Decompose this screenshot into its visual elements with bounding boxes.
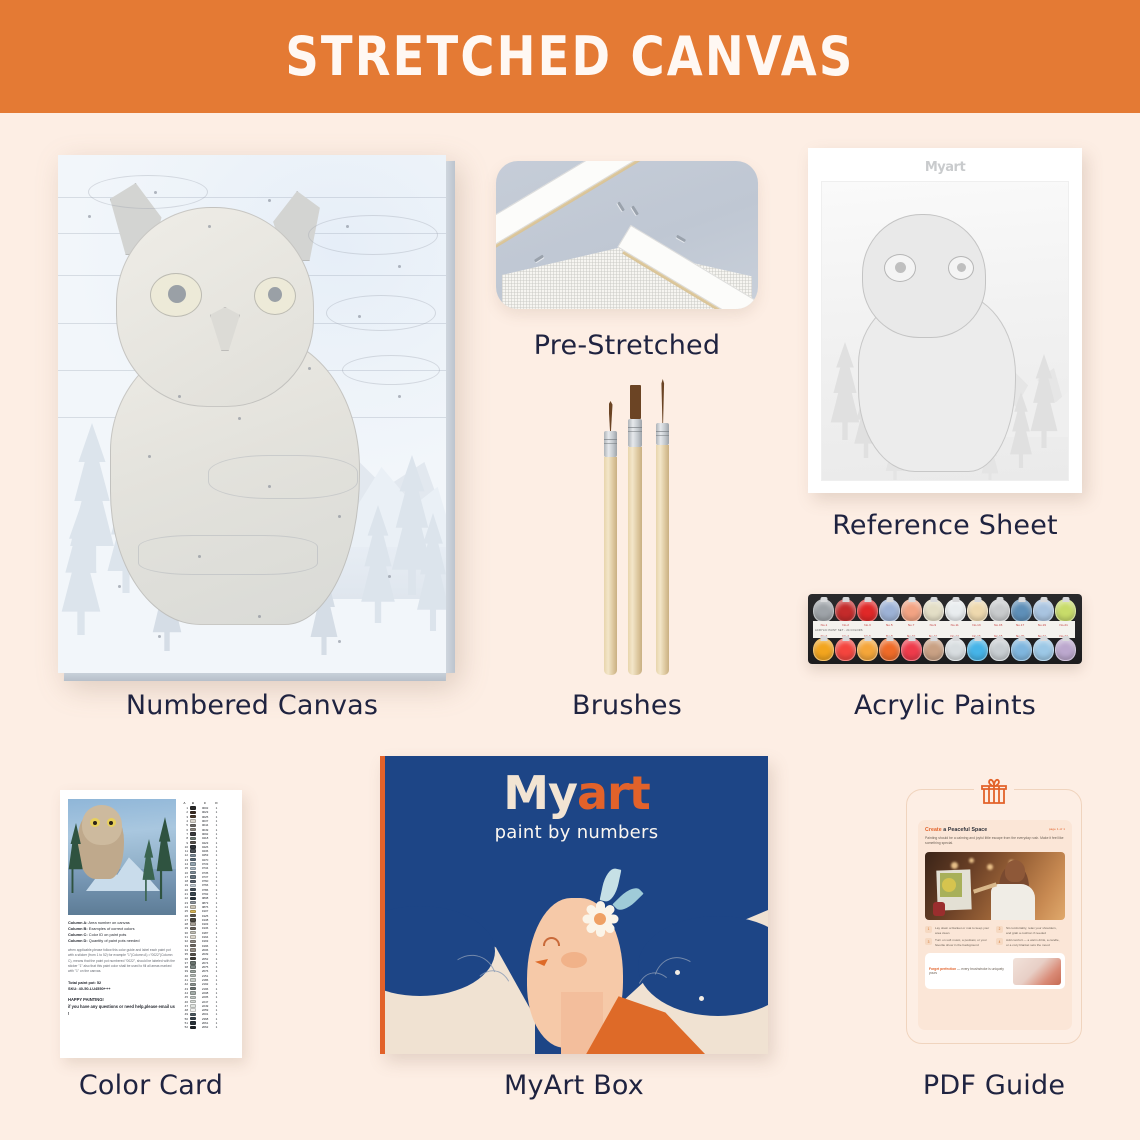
color-swatch [190, 983, 196, 986]
canvas-face [58, 155, 446, 673]
color-swatch [190, 875, 196, 878]
myart-logo-reference: Myart [821, 160, 1069, 175]
color-card-column-header: B [190, 801, 196, 805]
color-swatch [190, 940, 196, 943]
paint-pot-number: No.15 [987, 623, 1009, 627]
sparkle-dot [675, 970, 680, 975]
acrylic-paints-label: Acrylic Paints [808, 690, 1082, 721]
paint-pot-number: No.5 [878, 623, 900, 627]
paint-pot [1033, 599, 1054, 622]
color-swatch [190, 910, 196, 913]
color-swatch [190, 867, 196, 870]
canvas-owl-pupil-right [268, 287, 282, 302]
color-card-contact: if you have any questions or need help,p… [68, 1004, 176, 1018]
paint-pot-number: No.13 [966, 623, 988, 627]
paint-pot [989, 638, 1010, 661]
pdf-guide-tips: 1Lay down a blanket or mat to keep your … [925, 926, 1065, 948]
color-swatch [190, 888, 196, 891]
color-card-row: 5220621 [181, 1025, 234, 1029]
color-swatch [190, 961, 196, 964]
pdf-guide-footer-image [1013, 958, 1061, 985]
gift-icon [974, 772, 1014, 808]
color-swatch [190, 1021, 196, 1024]
pdf-guide-page: page 1 of 1 Create a Peaceful Space Pain… [918, 820, 1072, 1030]
box-front-face: Myart paint by numbers [385, 756, 768, 1054]
color-swatch [190, 841, 196, 844]
color-swatch [190, 974, 196, 977]
paint-pot-number: No.17 [1009, 623, 1031, 627]
paint-pot [857, 638, 878, 661]
paint-pot [967, 638, 988, 661]
color-area-number: 52 [181, 1025, 188, 1029]
color-card-label: Color Card [60, 1070, 242, 1101]
paint-pot [967, 599, 988, 622]
paint-pot [945, 638, 966, 661]
color-card-instructions: Column A: Area number on canvasColumn B:… [68, 920, 176, 1018]
color-swatch [190, 1000, 196, 1003]
pdf-guide-tip: 2Sit comfortably, relax your shoulders, … [996, 926, 1062, 935]
pdf-guide-title-accent: Create [925, 827, 942, 833]
pdf-guide-title-rest: a Peaceful Space [942, 827, 988, 833]
acrylic-paints-image: No.1No.2No.3No.5No.7No.9No.11No.13No.15N… [808, 594, 1082, 664]
brush-flat [628, 387, 642, 675]
pdf-guide-tip-text: Turn on soft music, a podcast, or your f… [935, 938, 991, 947]
color-swatch [190, 1026, 196, 1029]
pdf-guide-tip-text: Add comfort — a warm drink, a candle, or… [1006, 938, 1062, 947]
color-swatch [190, 871, 196, 874]
color-card-column-desc: Column D: Quantity of paint pots needed [68, 938, 176, 944]
daisy-center [594, 913, 606, 925]
pdf-guide-tip: 4Add comfort — a warm drink, a candle, o… [996, 938, 1062, 947]
paint-pot [835, 599, 856, 622]
pdf-guide-image: page 1 of 1 Create a Peaceful Space Pain… [906, 789, 1082, 1044]
paint-pot [879, 638, 900, 661]
pre-stretched-image [496, 161, 758, 309]
paint-pot [1055, 638, 1076, 661]
staple [534, 255, 544, 263]
page-title: STRETCHED CANVAS [285, 25, 854, 88]
pdf-guide-tip-text: Lay down a blanket or mat to keep your a… [935, 926, 991, 935]
logo-art-text: art [577, 766, 650, 820]
color-card-column-header: D [214, 801, 219, 805]
paint-pot [945, 599, 966, 622]
paint-pot [857, 599, 878, 622]
pdf-guide-photo [925, 852, 1065, 920]
color-swatch [190, 1008, 196, 1011]
color-swatch [190, 935, 196, 938]
paint-pot [989, 599, 1010, 622]
color-card-column-header: A [181, 801, 188, 805]
paint-pot [923, 638, 944, 661]
color-quantity: 1 [214, 1025, 219, 1029]
paint-pot [1033, 638, 1054, 661]
paint-pot [879, 599, 900, 622]
myart-logo: Myart [385, 756, 768, 816]
paint-pot-row-bottom [813, 638, 1076, 661]
color-swatch [190, 1004, 196, 1007]
color-swatch [190, 970, 196, 973]
color-swatch [190, 905, 196, 908]
color-swatch [190, 944, 196, 947]
pdf-guide-page-number: page 1 of 1 [1049, 827, 1065, 831]
paint-pot [813, 599, 834, 622]
color-swatch [190, 819, 196, 822]
staple [676, 235, 686, 243]
canvas-side-edge [446, 161, 455, 673]
reference-artwork [821, 181, 1069, 481]
color-swatch [190, 1013, 196, 1016]
color-id: 2062 [198, 1025, 212, 1029]
color-swatch [190, 922, 196, 925]
myart-box-image: Myart paint by numbers [380, 756, 768, 1054]
myart-box-label: MyArt Box [380, 1070, 768, 1101]
canvas-owl-pupil-left [168, 285, 186, 303]
color-swatch [190, 854, 196, 857]
paint-pot-number: No.11 [944, 623, 966, 627]
color-swatch [190, 858, 196, 861]
paint-pot-row-top [813, 599, 1076, 622]
color-swatch [190, 832, 196, 835]
pre-stretched-label: Pre-Stretched [496, 330, 758, 361]
brushes-label: Brushes [496, 690, 758, 721]
paint-label-strip: No.1No.2No.3No.5No.7No.9No.11No.13No.15N… [813, 621, 1075, 638]
pdf-guide-footer-accent: Forget perfection [929, 967, 956, 971]
color-swatch [190, 837, 196, 840]
brush-bristles [661, 379, 665, 423]
reference-sheet-image: Myart [808, 148, 1082, 493]
paint-pot-number: No.21 [1053, 623, 1075, 627]
brush-small [604, 413, 617, 675]
color-swatch [190, 892, 196, 895]
color-card-color-list: ABCD 10002120023130025140037150044160049… [181, 799, 234, 1049]
paint-pot-number: No.9 [922, 623, 944, 627]
color-card-note: when applicable,please follow this color… [68, 948, 176, 974]
color-swatch [190, 987, 196, 990]
paint-pot [1055, 599, 1076, 622]
pdf-guide-tip: 3Turn on soft music, a podcast, or your … [925, 938, 991, 947]
color-swatch [190, 845, 196, 848]
color-swatch [190, 991, 196, 994]
illustration-cheek [561, 952, 587, 968]
paint-pot-number: No.7 [900, 623, 922, 627]
pdf-guide-tip-number: 3 [925, 938, 932, 945]
pdf-guide-title: page 1 of 1 Create a Peaceful Space [925, 827, 1065, 833]
canvas-bottom-edge [64, 673, 446, 681]
pdf-guide-tip-text: Sit comfortably, relax your shoulders, a… [1006, 926, 1062, 935]
color-swatch [190, 953, 196, 956]
daisy-flower [581, 900, 619, 938]
paint-pot-number: No.1 [813, 623, 835, 627]
page-header: STRETCHED CANVAS [0, 0, 1140, 113]
color-swatch [190, 824, 196, 827]
sparkle-dot [699, 996, 704, 1001]
pdf-guide-tip-number: 4 [996, 938, 1003, 945]
color-card-sku: SKU: 40-50-LU4550+++ [68, 986, 176, 992]
color-swatch [190, 884, 196, 887]
color-swatch [190, 948, 196, 951]
staple [617, 201, 625, 211]
color-swatch [190, 927, 196, 930]
color-swatch [190, 815, 196, 818]
color-swatch [190, 849, 196, 852]
paint-pot-number: No.2 [835, 623, 857, 627]
color-swatch [190, 811, 196, 814]
color-swatch [190, 914, 196, 917]
color-swatch [190, 897, 196, 900]
color-swatch [190, 901, 196, 904]
pdf-guide-tip-number: 2 [996, 926, 1003, 933]
color-card-image: Column A: Area number on canvasColumn B:… [60, 790, 242, 1058]
pdf-guide-footer: Forget perfection — every brushstroke is… [925, 953, 1065, 989]
color-swatch [190, 978, 196, 981]
paint-pot [1011, 599, 1032, 622]
paint-pot [813, 638, 834, 661]
color-card-happy-painting: HAPPY PAINTING! [68, 997, 176, 1004]
brush-bristles [630, 385, 641, 419]
box-tagline: paint by numbers [385, 822, 768, 843]
paint-pot [835, 638, 856, 661]
paint-pot [923, 599, 944, 622]
color-swatch [190, 918, 196, 921]
paint-pot [901, 638, 922, 661]
paint-pot-number: No.3 [857, 623, 879, 627]
logo-my-text: My [503, 766, 577, 820]
numbered-canvas-image [58, 155, 446, 673]
color-card-column-header: C [198, 801, 212, 805]
color-swatch [190, 1017, 196, 1020]
color-card-left-column: Column A: Area number on canvasColumn B:… [68, 799, 176, 1049]
staple [631, 205, 639, 215]
color-swatch [190, 828, 196, 831]
reference-sheet-label: Reference Sheet [808, 510, 1082, 541]
color-swatch [190, 931, 196, 934]
numbered-canvas-label: Numbered Canvas [58, 690, 446, 721]
color-swatch [190, 965, 196, 968]
brushes-image [586, 385, 682, 675]
color-swatch [190, 957, 196, 960]
paint-pot [1011, 638, 1032, 661]
color-swatch [190, 806, 196, 809]
brush-liner [656, 397, 669, 675]
pdf-guide-tip: 1Lay down a blanket or mat to keep your … [925, 926, 991, 935]
brush-bristles [609, 401, 613, 431]
color-swatch [190, 862, 196, 865]
color-swatch [190, 996, 196, 999]
pdf-guide-subtitle: Painting should be a calming and joyful … [925, 836, 1065, 847]
color-card-artwork-thumbnail [68, 799, 176, 915]
pdf-guide-label: PDF Guide [906, 1070, 1082, 1101]
paint-pot [901, 599, 922, 622]
paint-pot-number: No.19 [1031, 623, 1053, 627]
pdf-guide-tip-number: 1 [925, 926, 932, 933]
color-swatch [190, 880, 196, 883]
